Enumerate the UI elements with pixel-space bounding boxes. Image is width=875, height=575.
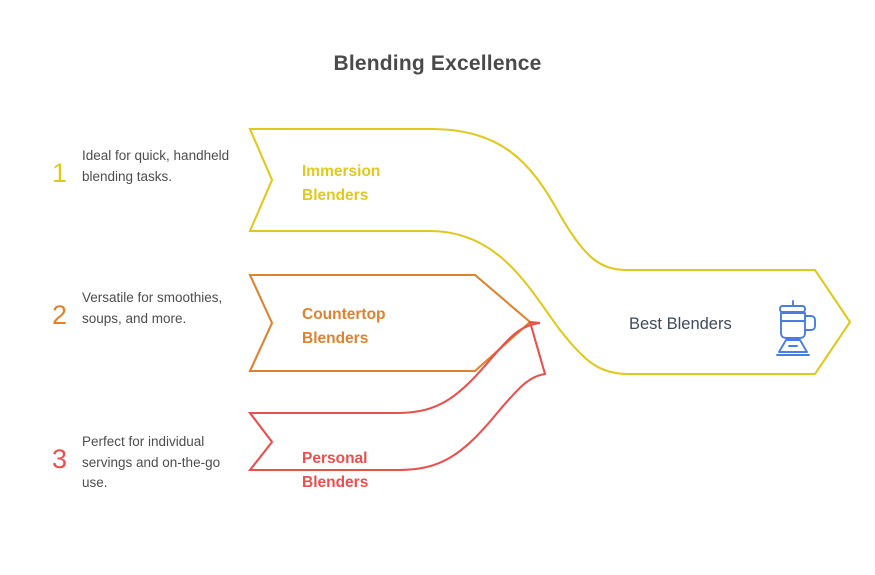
band-label-immersion-line2: Blenders — [302, 187, 368, 204]
diagram-canvas: Blending Excellence 1 Ideal for quick, h… — [0, 0, 875, 575]
band-label-personal-line1: Personal — [302, 450, 367, 467]
band-label-immersion-line1: Immersion — [302, 163, 380, 180]
blender-icon — [777, 301, 815, 355]
band-label-countertop-line1: Countertop — [302, 306, 386, 323]
flow-diagram: Immersion Blenders Countertop Blenders P… — [0, 0, 875, 575]
band-label-countertop-line2: Blenders — [302, 330, 368, 347]
outcome-label: Best Blenders — [629, 315, 732, 333]
band-shape-personal[interactable] — [250, 322, 545, 470]
band-shape-countertop[interactable] — [250, 275, 530, 371]
band-label-personal-line2: Blenders — [302, 474, 368, 491]
